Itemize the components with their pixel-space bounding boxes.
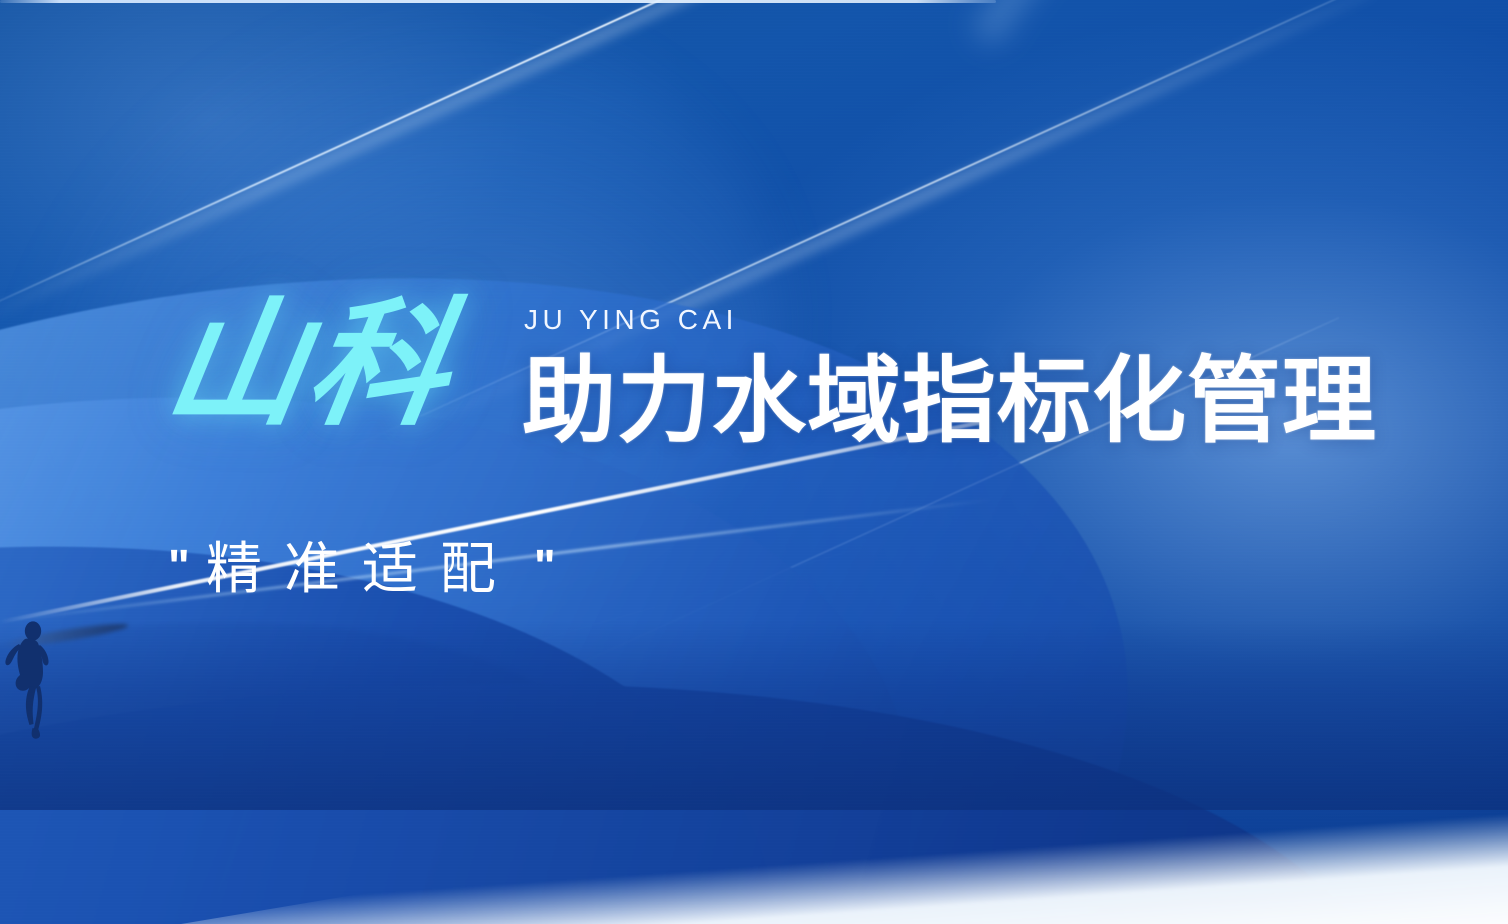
tagline: " 精准适配 " (168, 538, 556, 600)
brand-logo-text: 山科 (157, 296, 463, 434)
tagline-close-quote: " (534, 541, 556, 592)
headline-text: 助力水域指标化管理 (522, 352, 1377, 451)
tagline-text: 精准适配 (206, 538, 518, 600)
brand-pinyin: JU YING CAI (524, 304, 738, 336)
promo-banner: 山科 JU YING CAI 助力水域指标化管理 " 精准适配 " (0, 0, 1508, 924)
banner-content: 山科 JU YING CAI 助力水域指标化管理 " 精准适配 " (0, 0, 1508, 924)
tagline-open-quote: " (168, 541, 190, 592)
divider-line (0, 0, 996, 3)
